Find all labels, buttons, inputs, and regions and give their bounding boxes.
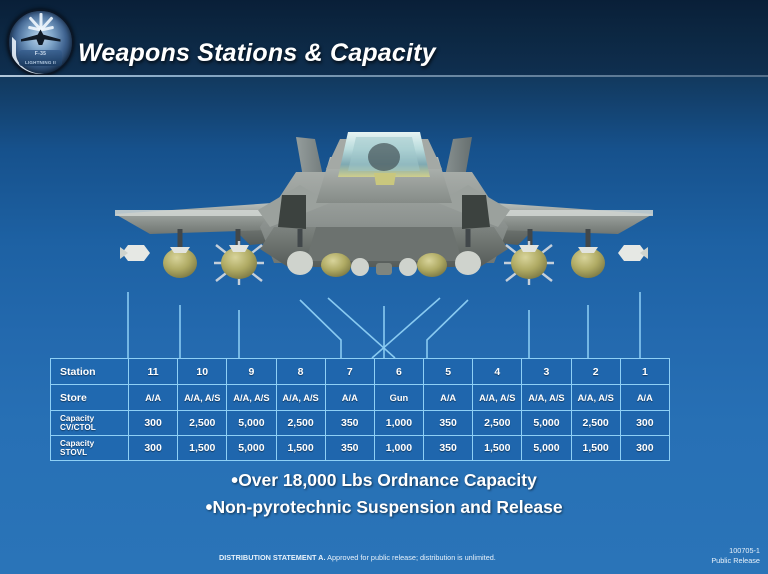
f35-lightning-ii-emblem-icon: F-35 LIGHTNING II: [7, 9, 74, 76]
cell-store-10: A/A, A/S: [178, 385, 227, 411]
cell-cap-cvctol-7: 350: [325, 411, 374, 436]
cell-station-6: 6: [374, 359, 423, 385]
cell-cap-stovl-9: 5,000: [227, 436, 276, 461]
row-label-capacity-cv-ctol: CapacityCV/CTOL: [51, 411, 129, 436]
document-number: 100705-1: [711, 546, 760, 556]
cell-cap-stovl-11: 300: [129, 436, 178, 461]
cell-store-1: A/A: [620, 385, 669, 411]
row-label-capacity-stovl-line2: STOVL: [60, 448, 87, 457]
cell-station-4: 4: [473, 359, 522, 385]
row-label-capacity-cv-ctol-line1: Capacity: [60, 414, 94, 423]
cell-cap-stovl-1: 300: [620, 436, 669, 461]
bullet-item-1: •Over 18,000 Lbs Ordnance Capacity: [0, 467, 768, 494]
distribution-statement-rest: Approved for public release; distributio…: [325, 553, 495, 562]
cell-store-2: A/A, A/S: [571, 385, 620, 411]
bullet-text-2: Non-pyrotechnic Suspension and Release: [212, 497, 562, 517]
summary-bullets: •Over 18,000 Lbs Ordnance Capacity •Non-…: [0, 467, 768, 521]
cell-cap-cvctol-10: 2,500: [178, 411, 227, 436]
emblem-line2: LIGHTNING II: [19, 60, 62, 65]
table-row-store: Store A/A A/A, A/S A/A, A/S A/A, A/S A/A…: [51, 385, 670, 411]
cell-station-10: 10: [178, 359, 227, 385]
cell-cap-stovl-7: 350: [325, 436, 374, 461]
cell-cap-stovl-5: 350: [424, 436, 473, 461]
row-label-station: Station: [51, 359, 129, 385]
cell-store-3: A/A, A/S: [522, 385, 571, 411]
cell-store-11: A/A: [129, 385, 178, 411]
cell-cap-stovl-4: 1,500: [473, 436, 522, 461]
cell-store-7: A/A: [325, 385, 374, 411]
slide-footer: DISTRIBUTION STATEMENT A. Approved for p…: [0, 545, 768, 574]
cell-cap-stovl-2: 1,500: [571, 436, 620, 461]
cell-station-3: 3: [522, 359, 571, 385]
cell-cap-stovl-8: 1,500: [276, 436, 325, 461]
cell-store-6: Gun: [374, 385, 423, 411]
cell-station-11: 11: [129, 359, 178, 385]
table-row-capacity-stovl: CapacitySTOVL 300 1,500 5,000 1,500 350 …: [51, 436, 670, 461]
distribution-statement-bold: DISTRIBUTION STATEMENT A.: [219, 553, 325, 562]
station-leader-lines: [0, 240, 768, 360]
cell-store-8: A/A, A/S: [276, 385, 325, 411]
emblem-nameplate: F-35 LIGHTNING II: [19, 50, 62, 66]
table-row-capacity-cv-ctol: CapacityCV/CTOL 300 2,500 5,000 2,500 35…: [51, 411, 670, 436]
cell-store-9: A/A, A/S: [227, 385, 276, 411]
cell-cap-cvctol-3: 5,000: [522, 411, 571, 436]
page-title: Weapons Stations & Capacity: [78, 39, 436, 68]
cell-station-5: 5: [424, 359, 473, 385]
cell-station-1: 1: [620, 359, 669, 385]
row-label-capacity-stovl: CapacitySTOVL: [51, 436, 129, 461]
row-label-capacity-stovl-line1: Capacity: [60, 439, 94, 448]
cell-cap-cvctol-11: 300: [129, 411, 178, 436]
release-label: Public Release: [711, 556, 760, 566]
leader-lines-svg: [0, 240, 768, 360]
emblem-line1: F-35: [19, 51, 62, 57]
bullet-item-2: •Non-pyrotechnic Suspension and Release: [0, 494, 768, 521]
bullet-text-1: Over 18,000 Lbs Ordnance Capacity: [238, 470, 537, 490]
cell-cap-cvctol-1: 300: [620, 411, 669, 436]
row-label-capacity-cv-ctol-line2: CV/CTOL: [60, 423, 96, 432]
cell-store-5: A/A: [424, 385, 473, 411]
cell-station-2: 2: [571, 359, 620, 385]
cell-station-7: 7: [325, 359, 374, 385]
row-label-store: Store: [51, 385, 129, 411]
cell-cap-cvctol-5: 350: [424, 411, 473, 436]
cell-cap-cvctol-2: 2,500: [571, 411, 620, 436]
cell-cap-stovl-10: 1,500: [178, 436, 227, 461]
cell-cap-stovl-6: 1,000: [374, 436, 423, 461]
cell-cap-cvctol-4: 2,500: [473, 411, 522, 436]
cell-cap-cvctol-9: 5,000: [227, 411, 276, 436]
slide-canvas: F-35 LIGHTNING II Weapons Stations & Cap…: [0, 0, 768, 574]
release-info: 100705-1 Public Release: [711, 546, 760, 566]
capacity-table: Station 11 10 9 8 7 6 5 4 3 2 1 Store A/…: [50, 358, 670, 461]
distribution-statement: DISTRIBUTION STATEMENT A. Approved for p…: [219, 553, 496, 562]
table-row-station: Station 11 10 9 8 7 6 5 4 3 2 1: [51, 359, 670, 385]
cell-station-9: 9: [227, 359, 276, 385]
weapons-stations-table: Station 11 10 9 8 7 6 5 4 3 2 1 Store A/…: [50, 358, 670, 461]
slide-header: F-35 LIGHTNING II Weapons Stations & Cap…: [0, 0, 768, 77]
cell-station-8: 8: [276, 359, 325, 385]
cell-store-4: A/A, A/S: [473, 385, 522, 411]
cell-cap-stovl-3: 5,000: [522, 436, 571, 461]
cell-cap-cvctol-6: 1,000: [374, 411, 423, 436]
cell-cap-cvctol-8: 2,500: [276, 411, 325, 436]
